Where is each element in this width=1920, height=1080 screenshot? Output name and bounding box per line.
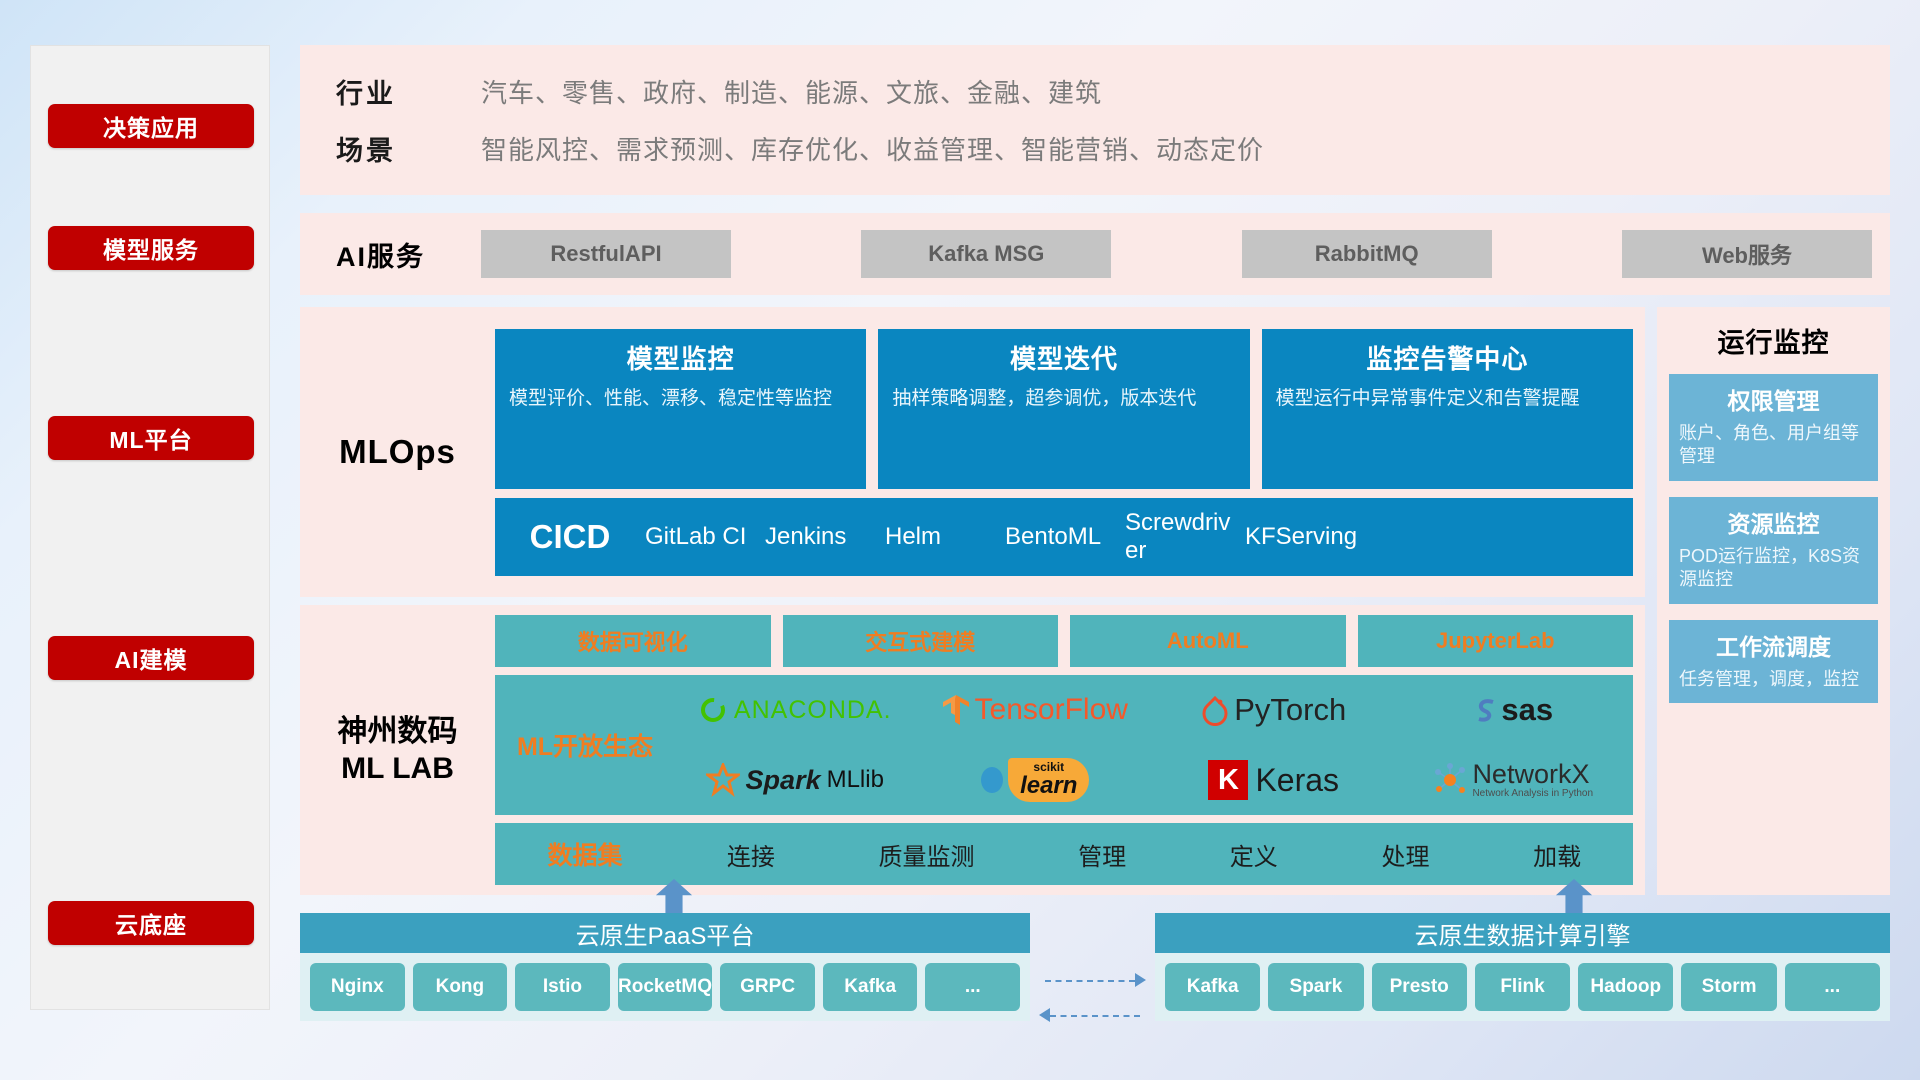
keras-logo: K Keras [1208, 760, 1339, 800]
sas-label: sas [1501, 692, 1553, 728]
sidebar-item-ml-platform[interactable]: ML平台 [48, 416, 254, 460]
mlops-card-alert-center[interactable]: 监控告警中心 模型运行中异常事件定义和告警提醒 [1262, 329, 1633, 489]
mllib-label: MLlib [827, 766, 884, 794]
scikit-orange-blob-icon: scikit learn [1008, 758, 1089, 802]
cicd-item[interactable]: Jenkins [765, 523, 885, 551]
dataset-item[interactable]: 连接 [727, 837, 775, 872]
runtime-monitoring-panel: 运行监控 权限管理 账户、角色、用户组等管理 资源监控 POD运行监控，K8S资… [1657, 307, 1890, 895]
dashed-arrow-head-right [1135, 973, 1146, 987]
cicd-item[interactable]: Screwdriver [1125, 509, 1245, 564]
paas-chip[interactable]: RocketMQ [618, 963, 713, 1011]
mlops-label: MLOps [300, 433, 495, 471]
monitor-card-permission[interactable]: 权限管理 账户、角色、用户组等管理 [1669, 374, 1878, 481]
dataset-item[interactable]: 定义 [1230, 837, 1278, 872]
dataset-item[interactable]: 处理 [1381, 837, 1429, 872]
sidebar-item-label: 决策应用 [103, 109, 199, 143]
monitoring-title: 运行监控 [1669, 321, 1878, 360]
sas-icon [1473, 696, 1499, 724]
sidebar-item-label: ML平台 [109, 421, 192, 455]
ml-tool-chip-list: 数据可视化 交互式建模 AutoML JupyterLab [495, 615, 1633, 667]
ml-logo-grid: ANACONDA. TensorFlow [675, 675, 1633, 815]
engine-chip[interactable]: Spark [1268, 963, 1363, 1011]
paas-chip[interactable]: GRPC [720, 963, 815, 1011]
cloud-base-band: 云原生PaaS平台 Nginx Kong Istio RocketMQ GRPC… [300, 895, 1890, 1035]
scenario-key: 场景 [336, 129, 481, 168]
sidebar-item-label: 云底座 [115, 906, 187, 940]
sidebar-item-ai-modelling[interactable]: AI建模 [48, 636, 254, 680]
keras-icon: K [1208, 760, 1248, 800]
dataset-item[interactable]: 质量监测 [878, 837, 974, 872]
ai-service-chip[interactable]: Web服务 [1622, 230, 1872, 278]
ai-service-band: AI服务 RestfulAPI Kafka MSG RabbitMQ Web服务 [300, 213, 1890, 295]
monitor-card-title: 资源监控 [1679, 505, 1868, 539]
ml-tool-chip-automl[interactable]: AutoML [1070, 615, 1346, 667]
scikit-learn-logo: scikit learn [979, 758, 1089, 802]
anaconda-logo: ANACONDA. [698, 695, 892, 725]
dataset-row: 数据集 连接 质量监测 管理 定义 处理 加载 [495, 823, 1633, 885]
ml-tool-chip-jupyterlab[interactable]: JupyterLab [1358, 615, 1634, 667]
paas-chip[interactable]: Kong [413, 963, 508, 1011]
scenario-row: 场景 智能风控、需求预测、库存优化、收益管理、智能营销、动态定价 [336, 129, 1890, 168]
engine-chip[interactable]: Storm [1681, 963, 1776, 1011]
ml-lab-label-line1: 神州数码 [300, 713, 495, 751]
spark-mllib-logo: Spark MLlib [706, 763, 884, 797]
monitor-card-desc: 任务管理，调度，监控 [1679, 668, 1868, 691]
sas-logo: sas [1473, 692, 1553, 728]
cloud-paas-title: 云原生PaaS平台 [300, 913, 1030, 953]
dataset-item[interactable]: 加载 [1533, 837, 1581, 872]
mlops-card-list: 模型监控 模型评价、性能、漂移、稳定性等监控 模型迭代 抽样策略调整，超参调优，… [495, 329, 1633, 489]
ai-service-label: AI服务 [336, 235, 481, 274]
cloud-paas-chip-list: Nginx Kong Istio RocketMQ GRPC Kafka ... [300, 953, 1030, 1011]
paas-chip[interactable]: ... [925, 963, 1020, 1011]
cloud-paas-block: 云原生PaaS平台 Nginx Kong Istio RocketMQ GRPC… [300, 913, 1030, 1021]
cicd-item[interactable]: KFServing [1245, 523, 1365, 551]
ml-tool-chip-interactive[interactable]: 交互式建模 [783, 615, 1059, 667]
tensorflow-label: TensorFlow [975, 693, 1128, 727]
ml-tool-chip-dataviz[interactable]: 数据可视化 [495, 615, 771, 667]
learn-label: learn [1020, 774, 1077, 798]
mlops-card-model-iteration[interactable]: 模型迭代 抽样策略调整，超参调优，版本迭代 [878, 329, 1249, 489]
scenario-value: 智能风控、需求预测、库存优化、收益管理、智能营销、动态定价 [481, 130, 1264, 167]
ml-ecosystem-row: ML开放生态 ANACONDA. [495, 675, 1633, 815]
ai-service-chip-list: RestfulAPI Kafka MSG RabbitMQ Web服务 [481, 230, 1890, 278]
monitor-card-desc: POD运行监控，K8S资源监控 [1679, 545, 1868, 592]
dashed-connector-right [1045, 980, 1135, 982]
monitor-card-title: 工作流调度 [1679, 628, 1868, 662]
engine-chip[interactable]: Presto [1372, 963, 1467, 1011]
sidebar-item-cloud-base[interactable]: 云底座 [48, 901, 254, 945]
ml-lab-label: 神州数码 ML LAB [300, 713, 495, 788]
engine-chip[interactable]: Kafka [1165, 963, 1260, 1011]
sidebar-item-label: 模型服务 [103, 231, 199, 265]
scikit-blue-blob-icon [979, 766, 1005, 794]
mlops-card-desc: 抽样策略调整，超参调优，版本迭代 [892, 386, 1235, 412]
engine-chip[interactable]: Hadoop [1578, 963, 1673, 1011]
cicd-title: CICD [495, 518, 645, 556]
industry-scenario-band: 行业 汽车、零售、政府、制造、能源、文旅、金融、建筑 场景 智能风控、需求预测、… [300, 45, 1890, 195]
pytorch-icon [1201, 694, 1229, 726]
cicd-bar: CICD GitLab CI Jenkins Helm BentoML Scre… [495, 498, 1633, 576]
dataset-item[interactable]: 管理 [1078, 837, 1126, 872]
sidebar-item-decision-app[interactable]: 决策应用 [48, 104, 254, 148]
ai-service-chip[interactable]: RestfulAPI [481, 230, 731, 278]
cicd-item[interactable]: GitLab CI [645, 523, 765, 551]
industry-value: 汽车、零售、政府、制造、能源、文旅、金融、建筑 [481, 73, 1102, 110]
sidebar-item-label: AI建模 [115, 641, 188, 675]
mlops-card-model-monitor[interactable]: 模型监控 模型评价、性能、漂移、稳定性等监控 [495, 329, 866, 489]
industry-key: 行业 [336, 72, 481, 111]
mlops-card-desc: 模型运行中异常事件定义和告警提醒 [1276, 386, 1619, 412]
cloud-data-engine-chip-list: Kafka Spark Presto Flink Hadoop Storm ..… [1155, 953, 1890, 1011]
ml-lab-content: 数据可视化 交互式建模 AutoML JupyterLab ML开放生态 ANA… [495, 606, 1645, 894]
anaconda-label: ANACONDA. [734, 696, 892, 725]
cicd-item[interactable]: BentoML [1005, 523, 1125, 551]
industry-row: 行业 汽车、零售、政府、制造、能源、文旅、金融、建筑 [336, 72, 1890, 111]
ml-ecosystem-label: ML开放生态 [495, 727, 675, 763]
cloud-data-engine-title: 云原生数据计算引擎 [1155, 913, 1890, 953]
mlops-card-title: 监控告警中心 [1276, 339, 1619, 376]
monitor-card-resource[interactable]: 资源监控 POD运行监控，K8S资源监控 [1669, 497, 1878, 604]
mlops-content: 模型监控 模型评价、性能、漂移、稳定性等监控 模型迭代 抽样策略调整，超参调优，… [495, 307, 1645, 597]
monitor-card-desc: 账户、角色、用户组等管理 [1679, 422, 1868, 469]
sidebar-item-model-service[interactable]: 模型服务 [48, 226, 254, 270]
ai-service-chip[interactable]: Kafka MSG [861, 230, 1111, 278]
paas-chip[interactable]: Kafka [823, 963, 918, 1011]
dashed-arrow-head-left [1039, 1008, 1050, 1022]
dashed-connector-left [1050, 1015, 1140, 1017]
networkx-label: NetworkX [1472, 761, 1593, 788]
pytorch-logo: PyTorch [1201, 692, 1346, 728]
engine-chip[interactable]: ... [1785, 963, 1880, 1011]
monitor-card-workflow[interactable]: 工作流调度 任务管理，调度，监控 [1669, 620, 1878, 703]
tensorflow-icon [941, 693, 971, 727]
paas-chip[interactable]: Istio [515, 963, 610, 1011]
spark-label: Spark [746, 765, 821, 796]
anaconda-icon [698, 695, 728, 725]
paas-chip[interactable]: Nginx [310, 963, 405, 1011]
cloud-data-engine-block: 云原生数据计算引擎 Kafka Spark Presto Flink Hadoo… [1155, 913, 1890, 1021]
ai-service-chip[interactable]: RabbitMQ [1242, 230, 1492, 278]
networkx-logo: NetworkX Network Analysis in Python [1433, 761, 1593, 799]
ai-modelling-band: 神州数码 ML LAB 数据可视化 交互式建模 AutoML JupyterLa… [300, 605, 1645, 895]
keras-label: Keras [1255, 762, 1339, 799]
spark-icon [706, 763, 740, 797]
mlops-card-desc: 模型评价、性能、漂移、稳定性等监控 [509, 386, 852, 412]
networkx-tagline: Network Analysis in Python [1472, 788, 1593, 799]
mlops-card-title: 模型监控 [509, 339, 852, 376]
networkx-icon [1433, 763, 1467, 797]
pytorch-label: PyTorch [1234, 692, 1346, 728]
mlops-card-title: 模型迭代 [892, 339, 1235, 376]
cicd-item[interactable]: Helm [885, 523, 1005, 551]
mlops-band: MLOps 模型监控 模型评价、性能、漂移、稳定性等监控 模型迭代 抽样策略调整… [300, 307, 1645, 597]
dataset-item-list: 连接 质量监测 管理 定义 处理 加载 [675, 837, 1633, 872]
dataset-label: 数据集 [495, 836, 675, 872]
engine-chip[interactable]: Flink [1475, 963, 1570, 1011]
monitor-card-title: 权限管理 [1679, 382, 1868, 416]
stack-layer-rail: 决策应用 模型服务 ML平台 AI建模 云底座 [30, 45, 270, 1010]
ml-lab-label-line2: ML LAB [300, 750, 495, 788]
tensorflow-logo: TensorFlow [941, 693, 1128, 727]
